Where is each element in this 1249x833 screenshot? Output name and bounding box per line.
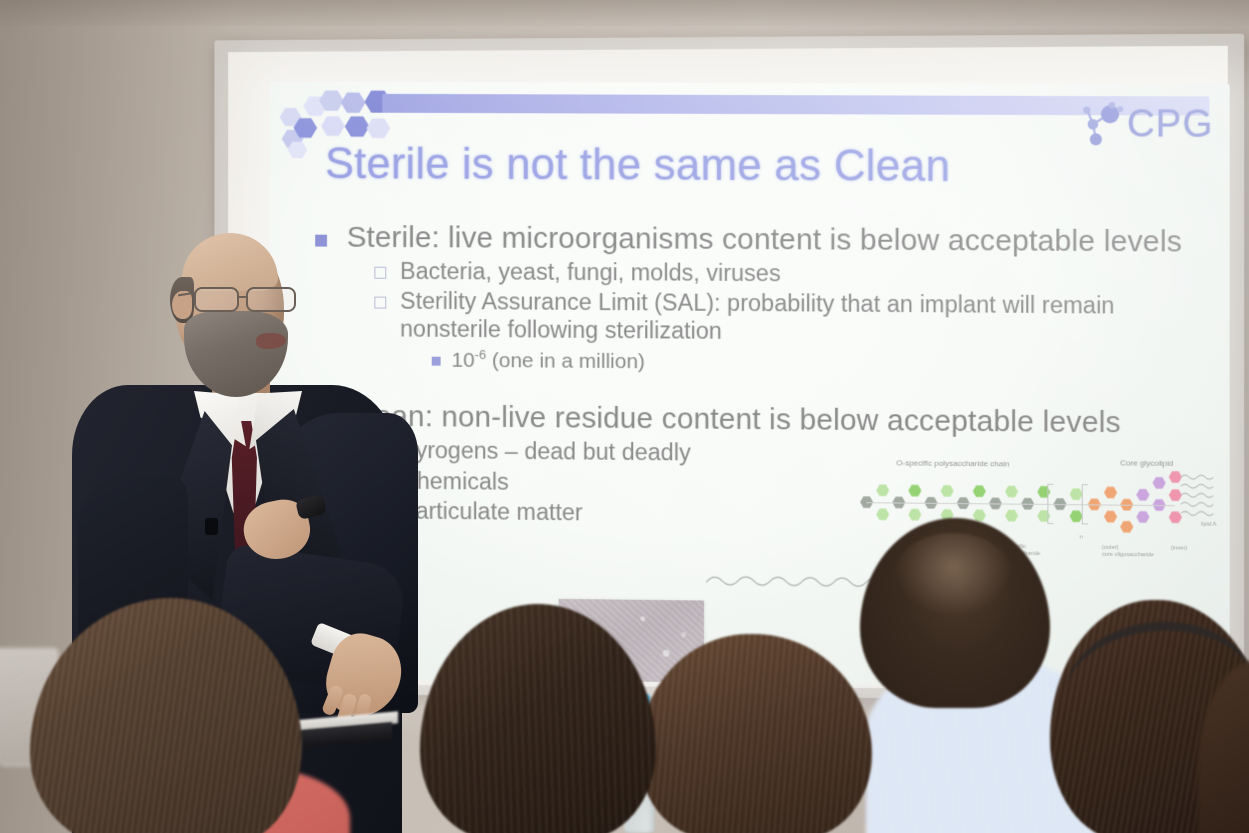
sugar-residue-icon: [1153, 477, 1166, 489]
subunit-bracket: [1082, 484, 1088, 524]
sugar-residue-icon: [876, 484, 889, 496]
sugar-residue-icon: [1136, 489, 1149, 501]
hexagon-icon: [341, 92, 366, 114]
sugar-residue-icon: [876, 508, 889, 520]
sal-value-exponent: -6: [475, 347, 486, 362]
hexagon-icon: [345, 116, 370, 138]
presentation-photo-scene: CPG Sterile is not the same as Clean Ste…: [0, 0, 1249, 833]
bullet-level2: Sterility Assurance Limit (SAL): probabi…: [374, 288, 1195, 348]
bullet-level3-text: 10-6 (one in a million): [452, 348, 646, 375]
sugar-residue-icon: [908, 509, 921, 521]
eyeglass-lens-left: [194, 287, 239, 312]
bullet-level2-text: Bacteria, yeast, fungi, molds, viruses: [400, 258, 781, 287]
sugar-residue-icon: [1136, 511, 1149, 523]
ceiling-band: [0, 0, 1249, 26]
sugar-residue-icon: [1104, 511, 1117, 523]
cpg-logo: CPG: [1078, 102, 1213, 147]
sal-value-tail: (one in a million): [486, 349, 645, 373]
bullet-level2-text: Pyrogens – dead but deadly: [400, 437, 691, 467]
sugar-residue-icon: [1005, 485, 1018, 497]
lapel-microphone-icon: [205, 518, 218, 535]
bullet-level2: Bacteria, yeast, fungi, molds, viruses: [374, 258, 1195, 290]
bullet-level1-text: Sterile: live microorganisms content is …: [347, 221, 1182, 260]
lps-core-label: Core glycolipid: [1120, 458, 1173, 468]
eyeglass-bridge: [239, 296, 247, 298]
bullet-level1: Sterile: live microorganisms content is …: [315, 221, 1195, 260]
bullet-level1-text: Clean: non-live residue content is below…: [347, 400, 1121, 441]
bullet-level2-text: Sterility Assurance Limit (SAL): probabi…: [400, 288, 1195, 348]
sugar-residue-icon: [1104, 486, 1117, 498]
bullet-small-square-icon: [432, 357, 441, 366]
lps-lipid-a-label: lipid A: [1201, 522, 1216, 529]
bullet-level2-text: Particulate matter: [400, 497, 583, 526]
hexagon-icon: [366, 118, 390, 139]
eyeglass-lens-right: [246, 287, 296, 312]
sugar-residue-icon: [1005, 510, 1018, 522]
lps-n-label: n: [1080, 534, 1083, 541]
sugar-residue-icon: [1120, 521, 1133, 533]
lipid-a-tails-icon: [1181, 471, 1226, 524]
sugar-residue-icon: [973, 485, 986, 497]
lps-o-chain-label: O-specific polysaccharide chain: [896, 458, 1009, 468]
slide-title: Sterile is not the same as Clean: [325, 139, 950, 192]
eyeglasses-icon: [194, 287, 304, 313]
sugar-residue-icon: [941, 485, 954, 497]
sugar-residue-icon: [908, 485, 921, 497]
molecule-icon: [1078, 102, 1125, 146]
bullet-level1: Clean: non-live residue content is below…: [315, 400, 1195, 442]
hexagon-icon: [321, 116, 345, 137]
lps-inner-core-label: (inner): [1171, 545, 1187, 552]
presenter-scalp: [182, 233, 278, 291]
cpg-logo-text: CPG: [1127, 103, 1214, 147]
subunit-bracket: [1047, 484, 1053, 524]
lps-outer-core-label: (outer)core oligosaccharide: [1102, 545, 1154, 560]
sal-value-base: 10: [452, 349, 475, 372]
